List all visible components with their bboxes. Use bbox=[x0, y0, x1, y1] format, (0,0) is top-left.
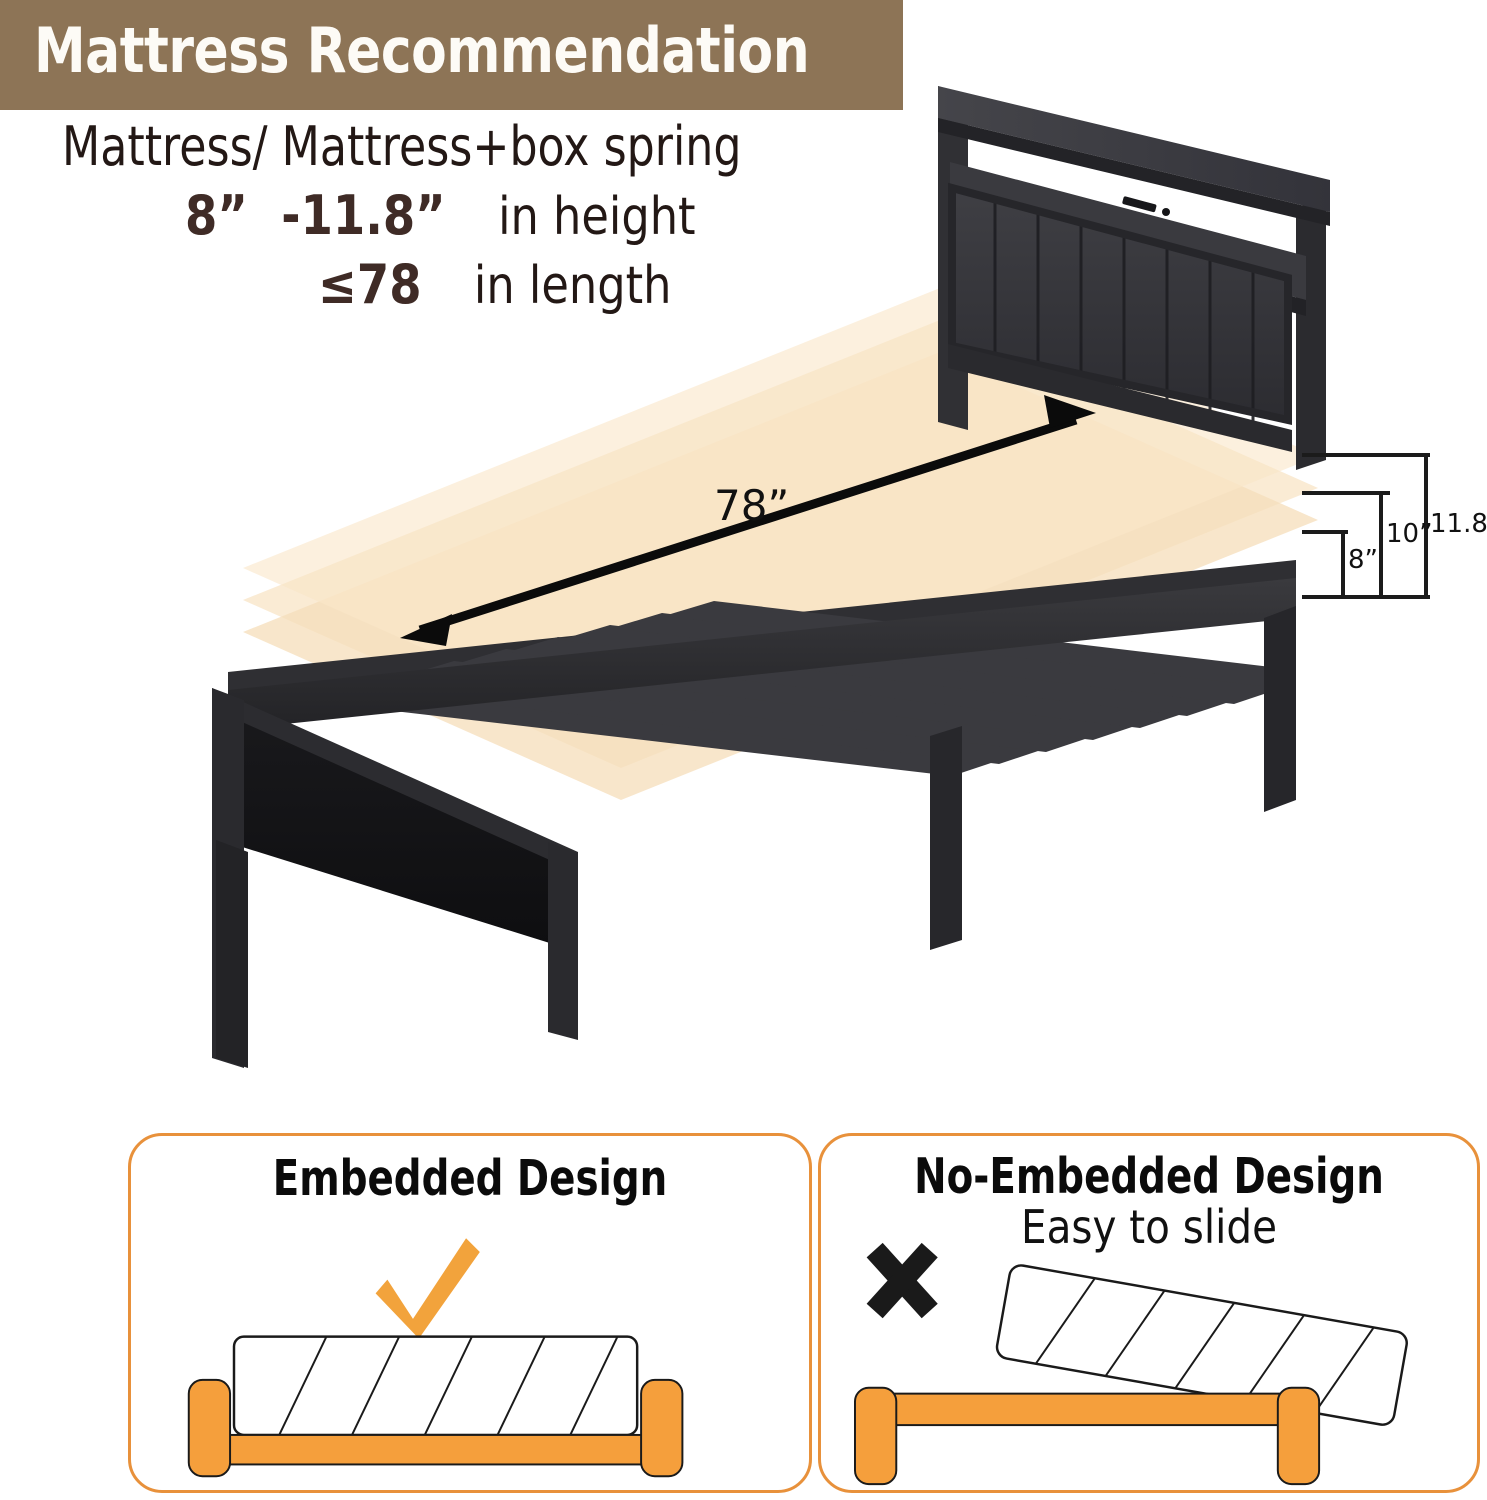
height-dimension-callout: 8” 10” 11.8” bbox=[1290, 440, 1487, 625]
leg-near-left bbox=[216, 840, 248, 1068]
frame-leg-right bbox=[641, 1380, 682, 1476]
dim-label-8in: 8” bbox=[1348, 545, 1378, 575]
frame-leg-left bbox=[855, 1388, 896, 1484]
headboard-post-right bbox=[1296, 196, 1326, 470]
dim-label-10in: 10” bbox=[1386, 519, 1433, 549]
check-icon bbox=[376, 1238, 480, 1338]
bed-illustration: 78” bbox=[0, 0, 1487, 1110]
frame-side-rail bbox=[865, 1394, 1309, 1425]
cross-icon bbox=[875, 1250, 930, 1311]
infographic-canvas: Mattress Recommendation Mattress/ Mattre… bbox=[0, 0, 1487, 1500]
length-callout-label: 78” bbox=[714, 481, 789, 530]
leg-mid-near bbox=[930, 726, 962, 950]
leg-head-right bbox=[1264, 606, 1296, 812]
footboard-post-right bbox=[548, 842, 578, 1040]
panel-embedded-art bbox=[131, 1136, 809, 1490]
dim-label-11-8in: 11.8” bbox=[1430, 509, 1487, 539]
frame-leg-right bbox=[1278, 1388, 1319, 1484]
panel-no-embedded-design: No-Embedded Design Easy to slide bbox=[818, 1133, 1480, 1493]
comparison-panels: Embedded Design bbox=[0, 1133, 1487, 1500]
frame-leg-left bbox=[189, 1380, 230, 1476]
panel-embedded-design: Embedded Design bbox=[128, 1133, 812, 1493]
frame-side-rail bbox=[228, 1435, 645, 1465]
panel-no-embedded-art bbox=[821, 1136, 1477, 1490]
